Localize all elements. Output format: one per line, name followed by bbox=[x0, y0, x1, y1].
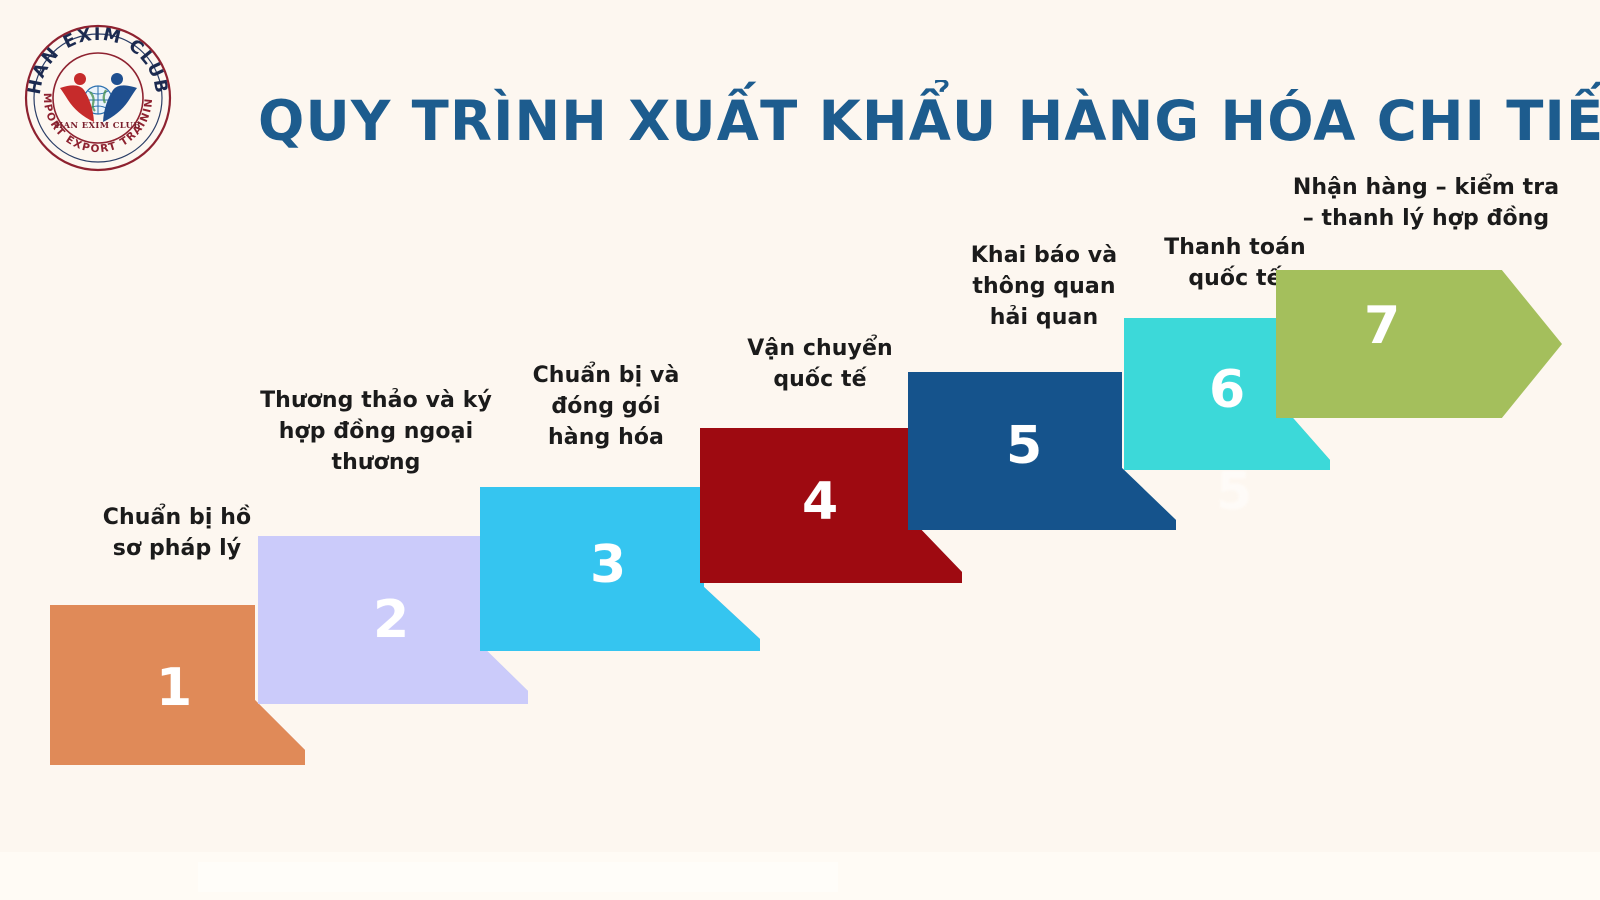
step-2-number: 2 bbox=[373, 594, 409, 646]
svg-text:HAN EXIM CLUB: HAN EXIM CLUB bbox=[55, 120, 141, 130]
step-1-number: 1 bbox=[156, 662, 192, 714]
step-4-caption: Vận chuyển quốc tế bbox=[712, 333, 928, 395]
step-7-number: 7 bbox=[1364, 300, 1400, 352]
step-4-number: 4 bbox=[802, 476, 838, 528]
ghost-number-artifact: 5 bbox=[1216, 462, 1252, 522]
step-7-arrow-block[interactable]: 7 bbox=[1276, 270, 1562, 418]
infographic-canvas: HAN EXIM CLUB IMPORT EXPORT TRAINING HAN… bbox=[0, 0, 1600, 900]
han-exim-club-logo: HAN EXIM CLUB IMPORT EXPORT TRAINING HAN… bbox=[22, 22, 174, 174]
step-3-caption: Chuẩn bị và đóng gói hàng hóa bbox=[496, 360, 716, 453]
step-2-caption: Thương thảo và ký hợp đồng ngoại thương bbox=[244, 385, 508, 478]
background-band-secondary bbox=[198, 862, 838, 892]
page-title: QUY TRÌNH XUẤT KHẨU HÀNG HÓA CHI TIẾT bbox=[258, 88, 1406, 154]
step-3-number: 3 bbox=[590, 539, 626, 591]
step-5-number: 5 bbox=[1006, 420, 1042, 472]
step-7-caption: Nhận hàng – kiểm tra – thanh lý hợp đồng bbox=[1268, 172, 1584, 234]
step-6-number: 6 bbox=[1209, 364, 1245, 416]
